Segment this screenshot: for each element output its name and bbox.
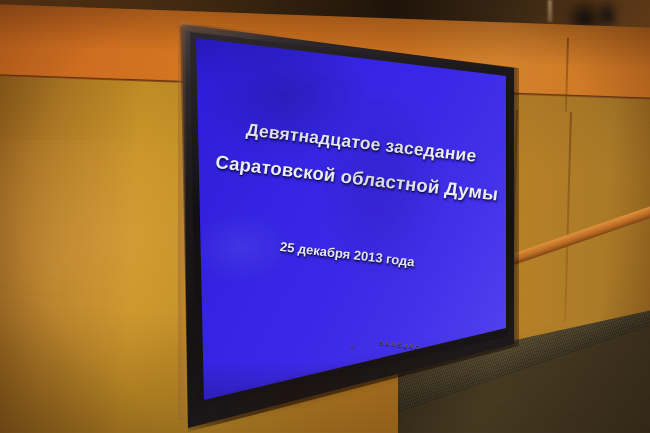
background-person-silhouette-secondary — [596, 0, 618, 26]
slide-date: 25 декабря 2013 года — [279, 239, 415, 269]
infrared-sensor-icon — [350, 346, 354, 349]
photograph-canvas: Девятнадцатое заседание Саратовской обла… — [0, 0, 650, 433]
background-pole — [548, 0, 552, 22]
